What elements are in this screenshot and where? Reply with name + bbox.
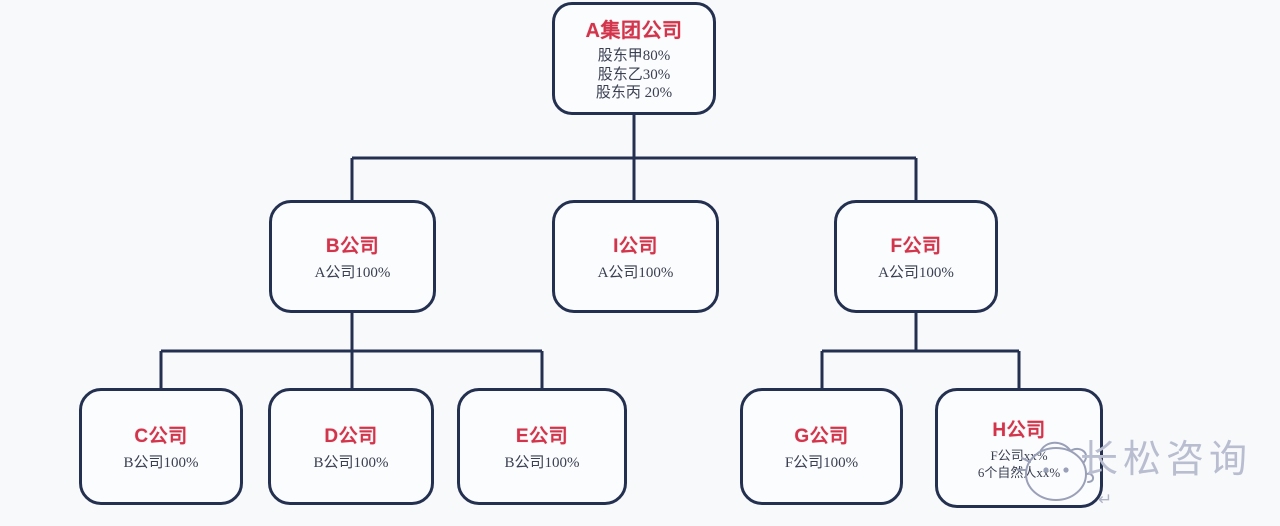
node-d-title: D公司 (324, 421, 377, 448)
node-i-title: I公司 (613, 231, 658, 258)
node-c-line-1: B公司100% (123, 454, 198, 473)
node-a-line-1: 股东甲80% (596, 47, 672, 66)
node-h-company[interactable]: H公司 F公司xx% 6个自然人xx% (935, 388, 1103, 508)
node-f-title: F公司 (890, 231, 941, 258)
node-a-line-3: 股东丙 20% (596, 84, 672, 103)
node-g-company[interactable]: G公司 F公司100% (740, 388, 903, 505)
node-e-title: E公司 (516, 421, 568, 448)
node-a-line-2: 股东乙30% (596, 66, 672, 85)
node-d-details: B公司100% (313, 454, 388, 473)
node-d-company[interactable]: D公司 B公司100% (268, 388, 434, 505)
node-a-title: A集团公司 (586, 14, 683, 43)
node-i-details: A公司100% (598, 264, 674, 283)
node-h-line-2: 6个自然人xx% (978, 465, 1060, 481)
node-i-company[interactable]: I公司 A公司100% (552, 200, 719, 313)
node-e-line-1: B公司100% (504, 454, 579, 473)
node-g-title: G公司 (794, 421, 848, 448)
node-f-line-1: A公司100% (878, 264, 954, 283)
node-g-line-1: F公司100% (785, 454, 858, 473)
node-b-details: A公司100% (315, 264, 391, 283)
node-d-line-1: B公司100% (313, 454, 388, 473)
node-c-details: B公司100% (123, 454, 198, 473)
node-h-line-1: F公司xx% (978, 448, 1060, 464)
node-g-details: F公司100% (785, 454, 858, 473)
node-e-details: B公司100% (504, 454, 579, 473)
node-b-line-1: A公司100% (315, 264, 391, 283)
node-i-line-1: A公司100% (598, 264, 674, 283)
org-chart-canvas: A集团公司 股东甲80% 股东乙30% 股东丙 20% B公司 A公司100% … (0, 0, 1280, 526)
node-a-details: 股东甲80% 股东乙30% 股东丙 20% (596, 47, 672, 103)
node-b-company[interactable]: B公司 A公司100% (269, 200, 436, 313)
node-e-company[interactable]: E公司 B公司100% (457, 388, 627, 505)
watermark-text: 长松咨询 (1080, 428, 1252, 483)
node-h-title: H公司 (992, 415, 1045, 442)
node-a-group[interactable]: A集团公司 股东甲80% 股东乙30% 股东丙 20% (552, 2, 716, 115)
node-b-title: B公司 (326, 231, 379, 258)
node-f-company[interactable]: F公司 A公司100% (834, 200, 998, 313)
node-h-details: F公司xx% 6个自然人xx% (978, 448, 1060, 481)
node-c-company[interactable]: C公司 B公司100% (79, 388, 243, 505)
node-f-details: A公司100% (878, 264, 954, 283)
node-c-title: C公司 (134, 421, 187, 448)
